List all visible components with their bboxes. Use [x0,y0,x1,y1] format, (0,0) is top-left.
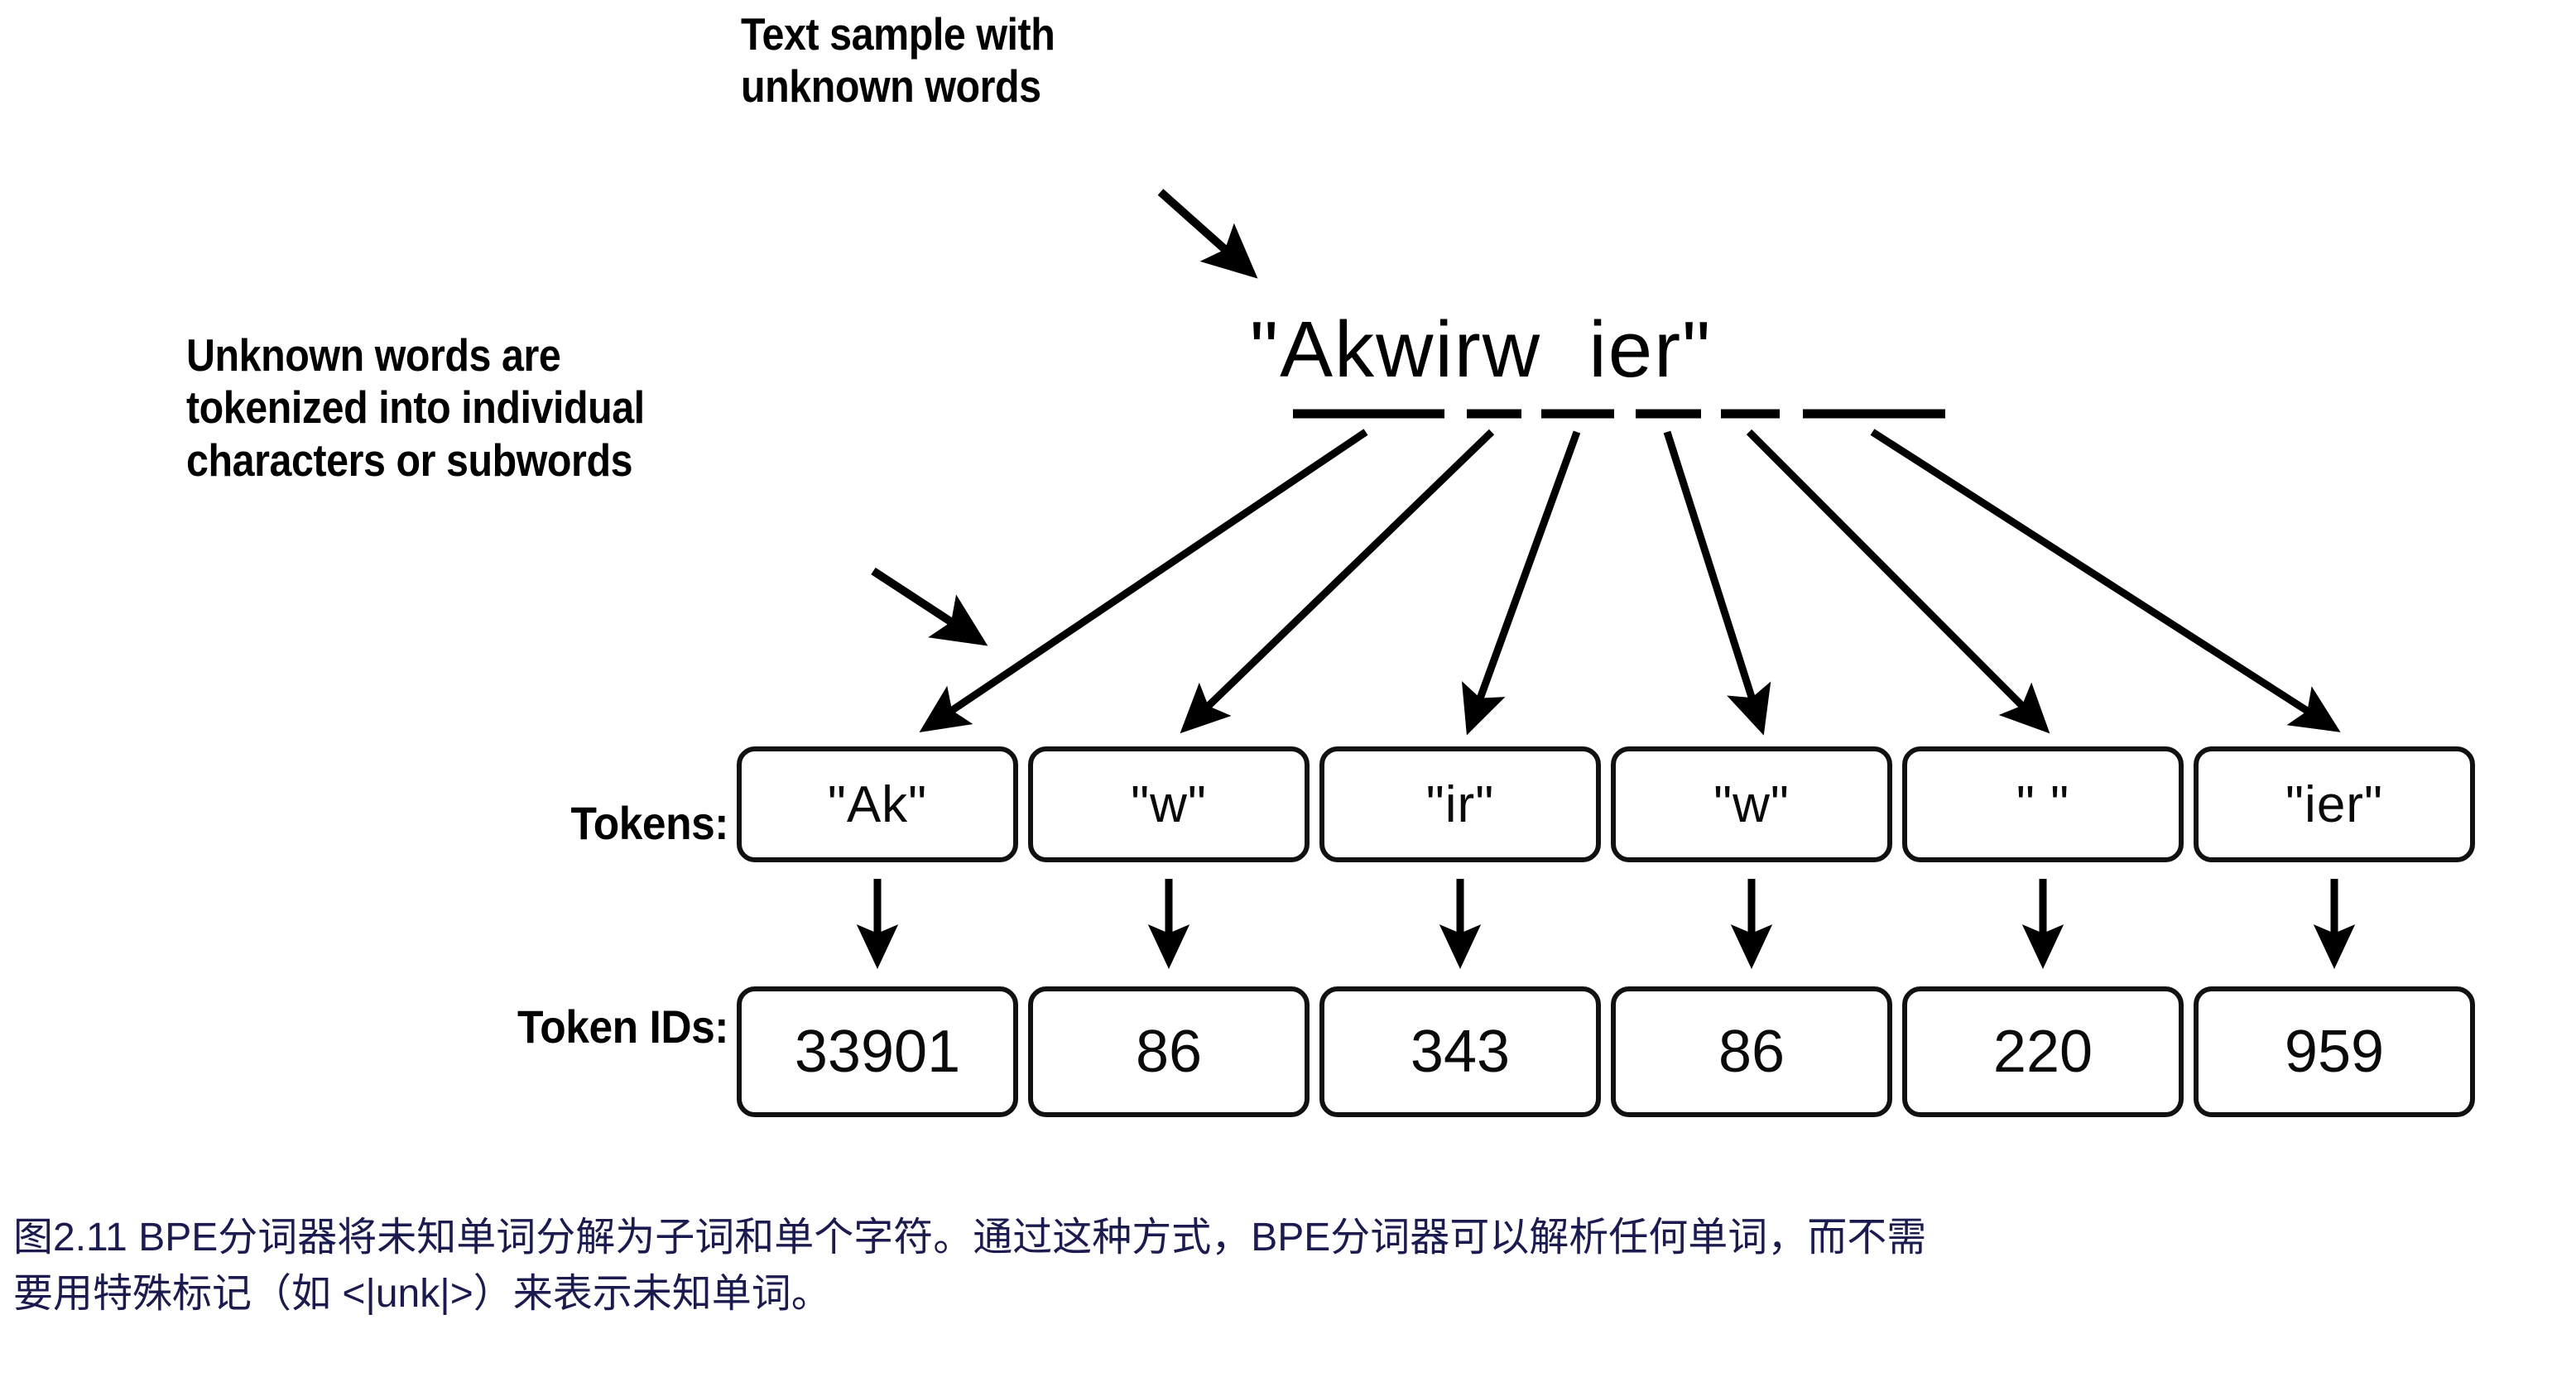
token-box: "ir" [1319,746,1601,862]
token-id-box: 86 [1611,986,1892,1117]
token-id-box: 86 [1028,986,1310,1117]
token-ids-row: 33901 86 343 86 220 959 [737,986,2475,1117]
token-id-box: 343 [1319,986,1601,1117]
figure-caption: 图2.11 BPE分词器将未知单词分解为子词和单个字符。通过这种方式，BPE分词… [13,1210,2563,1322]
caption-line-2: 要用特殊标记（如 <|unk|>）来表示未知单词。 [13,1266,2563,1322]
tokens-row: "Ak" "w" "ir" "w" " " "ier" [737,746,2475,862]
tokens-row-label: Tokens: [257,796,728,850]
sample-string: "Akwirw ier" [1250,305,1712,396]
annotation-unknown-words: Unknown words are tokenized into individ… [186,329,886,487]
caption-line-1: 图2.11 BPE分词器将未知单词分解为子词和单个字符。通过这种方式，BPE分词… [13,1210,2563,1266]
arrow-down-icon [877,879,2334,962]
token-ids-row-label: Token IDs: [257,1000,728,1053]
token-box: "w" [1611,746,1892,862]
figure-bpe-unknown-words: Text sample with unknown words Unknown w… [0,0,2576,1377]
arrow-layer [0,0,2576,1377]
token-box: "Ak" [737,746,1018,862]
arrow-down-right-icon [1161,192,1252,273]
token-box: "ier" [2194,746,2475,862]
annotation-text-sample: Text sample with unknown words [741,8,1295,113]
token-id-box: 220 [1902,986,2184,1117]
token-id-box: 33901 [737,986,1018,1117]
arrow-fan-down-icon [925,432,2334,728]
arrow-annotation-to-tokens-icon [873,571,981,641]
token-id-box: 959 [2194,986,2475,1117]
token-box: " " [1902,746,2184,862]
token-box: "w" [1028,746,1310,862]
